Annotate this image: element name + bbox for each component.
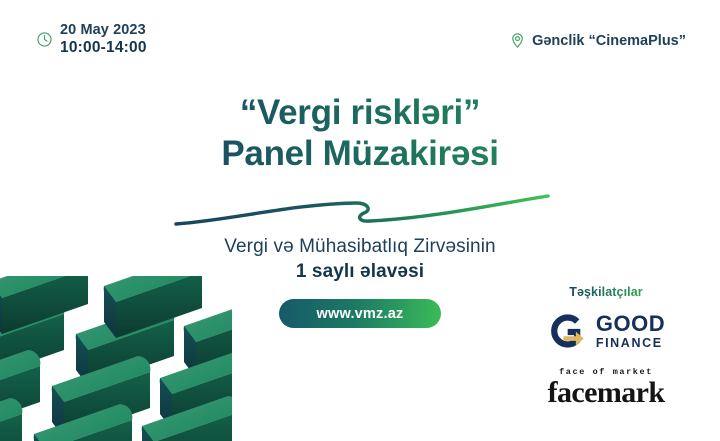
clock-icon bbox=[36, 31, 53, 48]
title-line-2: Panel Müzakirəsi bbox=[0, 133, 720, 174]
good-finance-word-2: FINANCE bbox=[596, 337, 665, 350]
swoosh-divider bbox=[172, 190, 552, 232]
event-date: 20 May 2023 bbox=[60, 22, 147, 39]
venue-name: Gənclik “CinemaPlus” bbox=[532, 33, 686, 49]
website-button[interactable]: www.vmz.az bbox=[279, 299, 441, 328]
event-poster: 20 May 2023 10:00-14:00 Gənclik “CinemaP… bbox=[0, 0, 720, 441]
event-venue: Gənclik “CinemaPlus” bbox=[509, 32, 686, 49]
website-url-label: www.vmz.az bbox=[317, 306, 404, 322]
event-datetime: 20 May 2023 10:00-14:00 bbox=[36, 22, 147, 57]
sponsors-label: Təşkilatçılar bbox=[569, 285, 643, 299]
subtitle-line-1: Vergi və Mühasibatlıq Zirvəsinin bbox=[0, 236, 720, 258]
logo-facemark: face of market facemark bbox=[518, 368, 694, 408]
facemark-wordmark: facemark bbox=[518, 378, 694, 408]
map-pin-icon bbox=[509, 32, 526, 49]
page-title: “Vergi riskləri” Panel Müzakirəsi bbox=[0, 92, 720, 175]
title-line-1: “Vergi riskləri” bbox=[0, 92, 720, 133]
good-finance-word-1: GOOD bbox=[596, 313, 665, 335]
sponsors-section: Təşkilatçılar GOOD FINANCE face of marke… bbox=[518, 283, 694, 408]
event-time: 10:00-14:00 bbox=[60, 39, 147, 57]
logo-good-finance: GOOD FINANCE bbox=[518, 310, 694, 352]
good-finance-mark-icon bbox=[547, 310, 589, 352]
decorative-3d-bars-graphic bbox=[0, 276, 232, 441]
